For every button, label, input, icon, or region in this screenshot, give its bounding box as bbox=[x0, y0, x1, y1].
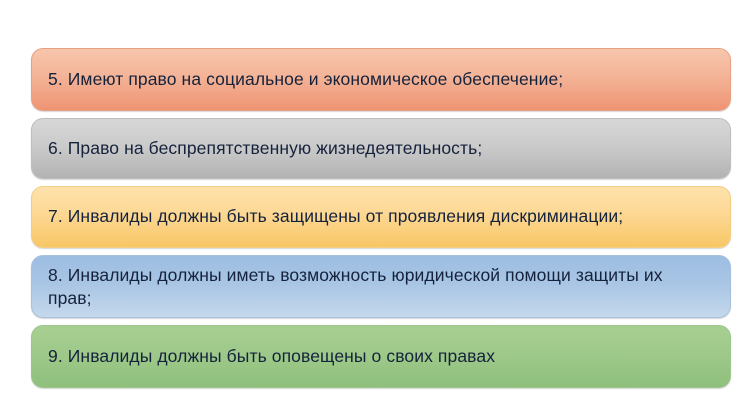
slide-canvas: 5. Имеют право на социальное и экономиче… bbox=[0, 0, 750, 420]
banner-item-9-text: 9. Инвалиды должны быть оповещены о свои… bbox=[48, 345, 495, 368]
banner-item-9[interactable]: 9. Инвалиды должны быть оповещены о свои… bbox=[31, 325, 731, 388]
banner-item-8[interactable]: 8. Инвалиды должны иметь возможность юри… bbox=[31, 255, 731, 318]
banner-item-7[interactable]: 7. Инвалиды должны быть защищены от проя… bbox=[31, 186, 731, 248]
banner-item-7-text: 7. Инвалиды должны быть защищены от проя… bbox=[48, 205, 623, 228]
banner-item-6-text: 6. Право на беспрепятственную жизнедеяте… bbox=[48, 137, 482, 160]
banner-list: 5. Имеют право на социальное и экономиче… bbox=[31, 48, 731, 395]
banner-item-6[interactable]: 6. Право на беспрепятственную жизнедеяте… bbox=[31, 118, 731, 179]
banner-item-8-text: 8. Инвалиды должны иметь возможность юри… bbox=[48, 264, 663, 310]
banner-item-5-text: 5. Имеют право на социальное и экономиче… bbox=[48, 68, 563, 91]
banner-item-5[interactable]: 5. Имеют право на социальное и экономиче… bbox=[31, 48, 731, 111]
